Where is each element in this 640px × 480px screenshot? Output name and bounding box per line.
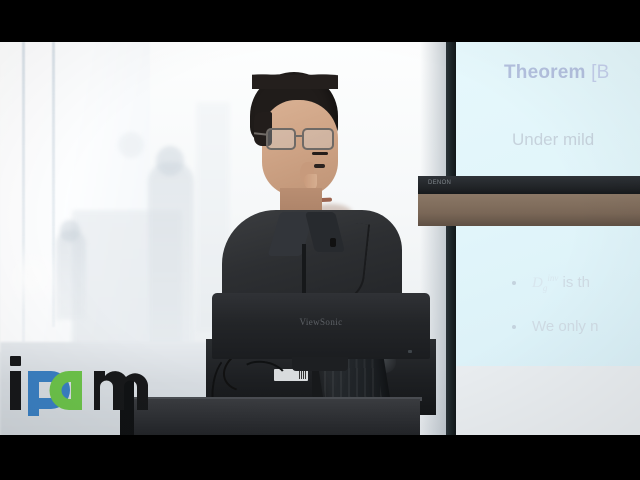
av-soundbar: DENON (418, 176, 640, 194)
logo-letter-p-stem (28, 371, 39, 416)
slide-bullet-item: We only n (512, 318, 598, 335)
glasses-lens-left (266, 128, 296, 150)
video-frame: ViewSonic Theorem [B Under mild Dginv is… (0, 0, 640, 480)
wooden-desk-surface (418, 194, 640, 226)
slide-bullet-text: We only n (532, 318, 598, 335)
slide-body-line: Under mild (512, 130, 594, 150)
av-soundbar-brand: DENON (428, 180, 451, 186)
monitor-brand-label: ViewSonic (212, 317, 430, 327)
video-content: ViewSonic Theorem [B Under mild Dginv is… (0, 42, 640, 435)
logo-letter-a-stem (71, 371, 82, 410)
slide-bullet-math: Dginv (532, 275, 558, 291)
background-audience-head (60, 220, 80, 242)
logo-letter-i-dot (10, 356, 21, 366)
lapel-mic-clip (330, 238, 336, 247)
ipam-logo-svg (8, 354, 156, 416)
background-audience-head (156, 146, 184, 176)
letterbox-top (0, 0, 640, 42)
glasses-lens-right (302, 128, 334, 150)
ipam-logo (8, 354, 156, 416)
slide-heading: Theorem [B (504, 62, 609, 84)
glasses-icon (262, 128, 344, 152)
logo-letter-m (94, 371, 148, 410)
bullet-dot-icon (512, 281, 516, 285)
speaker-eyebrow (312, 152, 328, 155)
viewsonic-monitor: ViewSonic (212, 293, 430, 359)
background-smudge (118, 132, 144, 158)
slide-bullet-item: Dginv is th (512, 273, 590, 293)
monitor-power-led (408, 350, 412, 353)
slide-heading-reference: [B (586, 62, 610, 83)
monitor-stand (292, 357, 348, 371)
glasses-bridge (296, 135, 304, 137)
speaker-eye (314, 164, 325, 168)
podium-front-panel (120, 399, 420, 435)
logo-letter-i-stem (10, 371, 21, 410)
letterbox-bottom (0, 435, 640, 480)
slide-bullet-text: is th (563, 274, 591, 291)
slide-heading-text: Theorem (504, 62, 586, 83)
bullet-dot-icon (512, 325, 516, 329)
speaker-hair-spikes (252, 67, 338, 89)
